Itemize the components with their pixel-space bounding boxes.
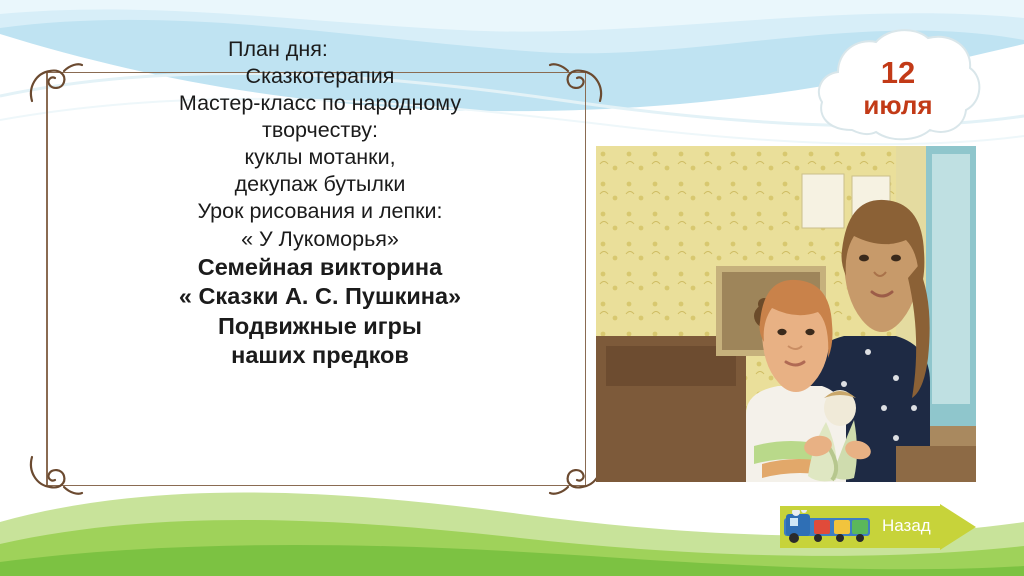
train-icon <box>784 510 870 544</box>
event-photo <box>596 146 976 482</box>
plan-of-day-text: План дня:СказкотерапияМастер-класс по на… <box>60 36 580 371</box>
plan-line: « Сказки А. С. Пушкина» <box>60 282 580 312</box>
photo-illustration <box>596 146 976 482</box>
plan-line: наших предков <box>60 341 580 371</box>
plan-line: куклы мотанки, <box>60 144 580 171</box>
date-day: 12 <box>881 56 915 91</box>
plan-line: Подвижные игры <box>60 312 580 342</box>
back-button-label[interactable]: Назад <box>882 516 931 536</box>
plan-line: Урок рисования и лепки: <box>60 198 580 225</box>
plan-line: декупаж бутылки <box>60 171 580 198</box>
date-cloud: 12 июля <box>812 26 984 150</box>
plan-line: творчеству: <box>60 117 580 144</box>
plan-line: Мастер-класс по народному <box>60 90 580 117</box>
back-button[interactable]: Назад <box>780 504 976 550</box>
slide: План дня:СказкотерапияМастер-класс по на… <box>0 0 1024 576</box>
plan-line: План дня: <box>60 36 580 63</box>
plan-line: Семейная викторина <box>60 253 580 283</box>
date-month: июля <box>863 91 932 120</box>
plan-line: « У Лукоморья» <box>60 226 580 253</box>
date-text: 12 июля <box>812 26 984 150</box>
plan-line: Сказкотерапия <box>60 63 580 90</box>
corner-flourish-icon <box>24 449 84 509</box>
